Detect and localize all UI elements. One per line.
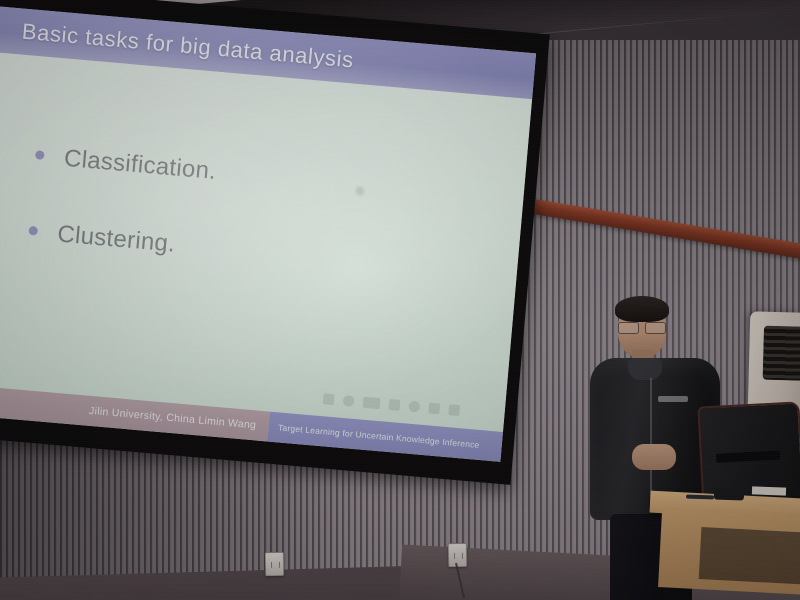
- podium-desk-shadow: [699, 527, 800, 585]
- pen-control[interactable]: [363, 397, 381, 409]
- list-item: Classification.: [34, 142, 525, 213]
- eyeglasses-icon: [618, 322, 666, 333]
- zoom-control[interactable]: [408, 401, 420, 413]
- remote-control: [714, 488, 744, 500]
- projected-slide: Basic tasks for big data analysis Classi…: [0, 5, 536, 462]
- presenter-hands: [632, 444, 676, 470]
- projection-screen: Basic tasks for big data analysis Classi…: [0, 0, 550, 485]
- jacket-collar: [628, 358, 662, 380]
- bullet-marker-icon: [35, 150, 45, 160]
- more-options-control[interactable]: [428, 402, 440, 414]
- slide-menu-control[interactable]: [388, 399, 400, 411]
- jacket-brand-logo: [658, 396, 688, 402]
- wall-power-outlet: [448, 543, 467, 567]
- bullet-text: Clustering.: [56, 220, 176, 258]
- lecture-hall-photo: Basic tasks for big data analysis Classi…: [0, 0, 800, 600]
- air-vent-grille-icon: [763, 326, 800, 381]
- pointer-control[interactable]: [343, 395, 355, 407]
- bullet-marker-icon: [28, 226, 38, 236]
- chair-backrest-bar: [716, 450, 780, 462]
- list-item: Clustering.: [27, 218, 518, 289]
- bullet-text: Classification.: [63, 145, 217, 186]
- slide-body: Classification. Clustering.: [0, 50, 532, 432]
- next-slide-control[interactable]: [448, 404, 460, 416]
- jacket-zipper: [650, 378, 652, 508]
- affiliation-text: Jilin University, China Limin Wang: [89, 405, 257, 432]
- presenter-hair: [615, 296, 669, 322]
- wall-power-outlet: [265, 552, 284, 576]
- paper-sheet: [752, 486, 786, 495]
- previous-slide-control[interactable]: [323, 393, 335, 405]
